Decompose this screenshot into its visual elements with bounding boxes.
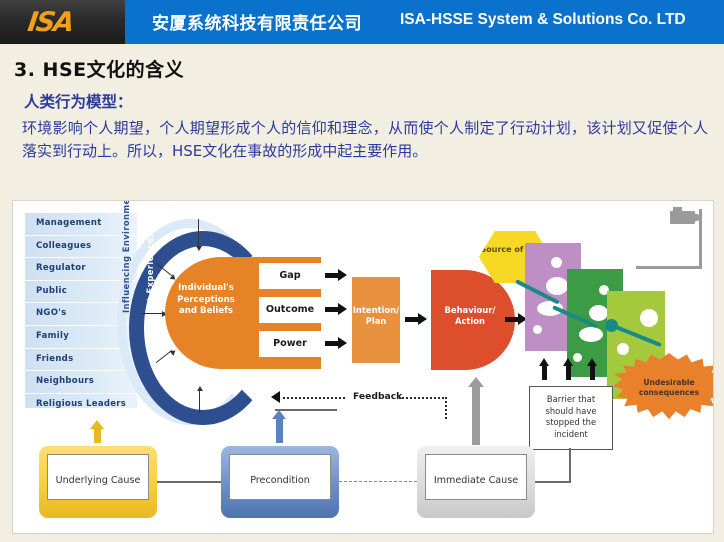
immediate-cause-label: Immediate Cause [417,475,535,486]
connector-barrier-vertical [569,448,571,482]
connector-underlying-precondition [157,481,221,483]
header-blue-bar: 安厦系统科技有限责任公司 ISA-HSSE System & Solutions… [125,0,724,44]
arrow-power-stem [325,341,339,346]
list-item: Religious Leaders [25,394,137,416]
precondition-up-arrow-head [272,410,286,419]
camera-arm [636,266,702,269]
underlying-cause-box: Underlying Cause [39,446,157,518]
past-experiences-label: Past Experiences [145,232,155,319]
list-item: Neighbours [25,371,137,394]
hole-2 [546,277,568,295]
logo-zone: ISA [0,0,125,44]
connector-immediate-barrier [535,481,571,483]
feedback-arrow-head [271,391,280,403]
hole-8 [573,353,582,362]
section-subtitle: 人类行为模型： [24,90,133,112]
camera-pole [699,209,702,269]
behaviour-action-shape: Behaviour/ Action [431,270,515,370]
isa-logo: ISA [26,7,75,38]
barrier-arrow-2-head [563,358,573,366]
arrow-gap-head [338,269,347,281]
hole-6 [589,305,608,321]
influencing-environment-label: Influencing Environment [121,200,131,313]
hole-4 [533,325,542,334]
company-name-cn: 安厦系统科技有限责任公司 [152,9,362,34]
feedback-dotline-right [399,397,447,399]
feedback-dotline-down [445,397,448,419]
arrow-bottom-in [199,389,200,413]
company-name-en: ISA-HSSE System & Solutions Co. LTD [400,11,686,29]
barrier-arrow-1-head [539,358,549,366]
arrow-env-in [141,313,163,314]
behaviour-action-label: Behaviour/ Action [431,305,509,327]
arrow-top-in-head [196,246,202,251]
power-box: Power [259,331,321,357]
precondition-label: Precondition [221,475,339,486]
arrow-outcome-stem [325,307,339,312]
underlying-cause-label: Underlying Cause [39,475,157,486]
precondition-up-arrow-stem [276,419,283,443]
immediate-up-arrow-head [468,377,484,387]
underlying-up-arrow-head [90,420,104,429]
hole-7 [579,327,603,342]
undesirable-consequences-label: Undesirable consequences [621,378,714,398]
barrier-note-label: Barrier that should have stopped the inc… [532,394,610,440]
intention-plan-box: Intention/ Plan [352,277,400,363]
outcome-box: Outcome [259,297,321,323]
arrow-gap-stem [325,273,339,278]
barrier-arrow-2-stem [566,365,571,380]
feedback-label: Feedback [353,391,402,402]
arrow-top-in [198,219,199,247]
arrow-power-head [338,337,347,349]
barrier-arrow-1-stem [542,365,547,380]
feedback-dotline-left [283,397,345,399]
underlying-up-arrow-stem [94,429,101,443]
arrow-intent-stem [405,317,419,322]
human-behaviour-model-diagram: Management Colleagues Regulator Public N… [12,200,714,534]
hole-1 [551,257,562,268]
body-paragraph: 环境影响个人期望，个人期望形成个人的信仰和理念，从而使个人制定了行动计划，该计划… [22,117,708,163]
barrier-arrow-3-stem [590,365,595,380]
arrow-intent-head [418,313,427,325]
video-camera-icon [670,211,695,224]
app-header: ISA 安厦系统科技有限责任公司 ISA-HSSE System & Solut… [0,0,724,44]
barrier-note-box: Barrier that should have stopped the inc… [529,386,613,450]
perceptions-core-label: Individual's Perceptions and Beliefs [169,283,243,318]
page-title: 3. HSE文化的含义 [14,55,184,82]
hole-9 [640,309,658,327]
connector-precondition-immediate [339,481,417,482]
intention-plan-label: Intention/ Plan [352,305,400,327]
barrier-arrow-3-head [587,358,597,366]
arrow-behave-stem [505,317,519,322]
hole-10 [617,343,629,355]
arrow-bottom-in-head [197,386,203,391]
precondition-box: Precondition [221,446,339,518]
immediate-up-arrow-stem [472,387,480,445]
gap-box: Gap [259,263,321,289]
immediate-cause-box: Immediate Cause [417,446,535,518]
arrow-outcome-head [338,303,347,315]
